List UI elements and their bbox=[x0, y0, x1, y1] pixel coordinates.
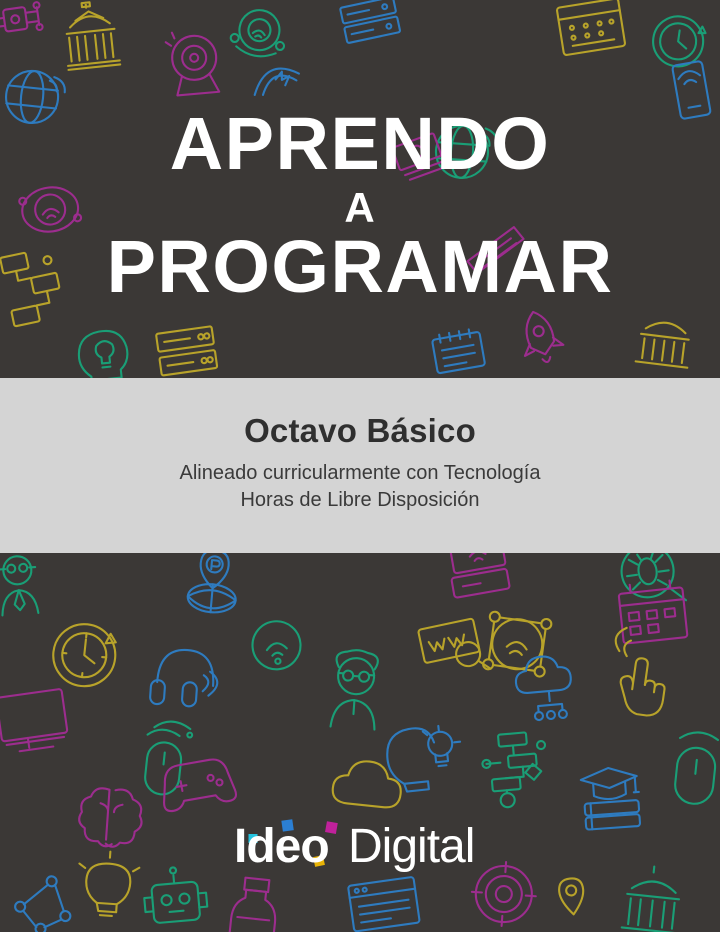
curriculum-note-line2: Horas de Libre Disposición bbox=[240, 489, 479, 511]
title-line-programar: PROGRAMAR bbox=[0, 231, 720, 304]
network-nodes-icon bbox=[12, 875, 72, 932]
clock-arrow-icon bbox=[50, 621, 118, 689]
location-pin-globe-icon bbox=[187, 548, 240, 614]
logo-mark: Ideo Digital bbox=[230, 812, 490, 874]
ink-bottle-icon bbox=[228, 877, 279, 932]
monitor-icon bbox=[0, 689, 69, 754]
lightbulb-head-icon bbox=[77, 329, 130, 382]
wifi-router-icon bbox=[228, 6, 289, 61]
cover-title: APRENDO A PROGRAMAR bbox=[0, 108, 720, 303]
subtitle-banner: Octavo Básico Alineado curricularmente c… bbox=[0, 378, 720, 553]
logo-word-ideo: Ideo bbox=[234, 820, 329, 873]
bank-icon bbox=[622, 864, 684, 932]
cloud-network-icon bbox=[514, 654, 574, 722]
gamepad-icon bbox=[158, 756, 237, 812]
server-icon bbox=[340, 0, 400, 43]
router-wifi-icon bbox=[483, 611, 552, 677]
rocket-icon bbox=[514, 306, 567, 367]
antenna-icon bbox=[250, 64, 302, 97]
mouse-icon bbox=[673, 731, 718, 806]
www-search-icon bbox=[418, 617, 491, 682]
calendar-icon bbox=[557, 0, 626, 55]
logo-word-digital: Digital bbox=[348, 820, 474, 873]
circuit-icon bbox=[0, 2, 43, 36]
bank-icon bbox=[62, 0, 121, 70]
book-cover: APRENDO A PROGRAMAR Octavo Básico Alinea… bbox=[0, 0, 720, 932]
touch-signal-icon bbox=[606, 627, 672, 718]
curriculum-note: Alineado curricularmente con Tecnología … bbox=[180, 460, 541, 513]
grade-level-label: Octavo Básico bbox=[244, 412, 476, 450]
server-stack-icon bbox=[156, 326, 217, 375]
cloud-icon bbox=[331, 758, 403, 809]
calendar-icon bbox=[618, 579, 688, 643]
clock-icon bbox=[650, 13, 707, 70]
title-line-aprendo: APRENDO bbox=[0, 108, 720, 181]
notebook-icon bbox=[431, 328, 485, 374]
browser-window-icon bbox=[348, 877, 420, 932]
ideodigital-logo: Ideo Digital bbox=[0, 812, 720, 874]
headphones-icon bbox=[150, 648, 220, 708]
teacher-glasses-icon bbox=[331, 649, 380, 730]
teacher-icon bbox=[0, 555, 38, 615]
mouse-signal-icon bbox=[141, 719, 193, 797]
flowchart-icon bbox=[480, 731, 550, 809]
curriculum-note-line1: Alineado curricularmente con Tecnología bbox=[180, 462, 541, 484]
wifi-network-icon bbox=[251, 619, 303, 671]
lightbulb-idea-icon bbox=[385, 724, 465, 794]
pin-location-icon bbox=[558, 877, 586, 915]
webcam-icon bbox=[165, 29, 219, 96]
bank-icon bbox=[636, 320, 693, 368]
title-line-a: A bbox=[0, 187, 720, 229]
